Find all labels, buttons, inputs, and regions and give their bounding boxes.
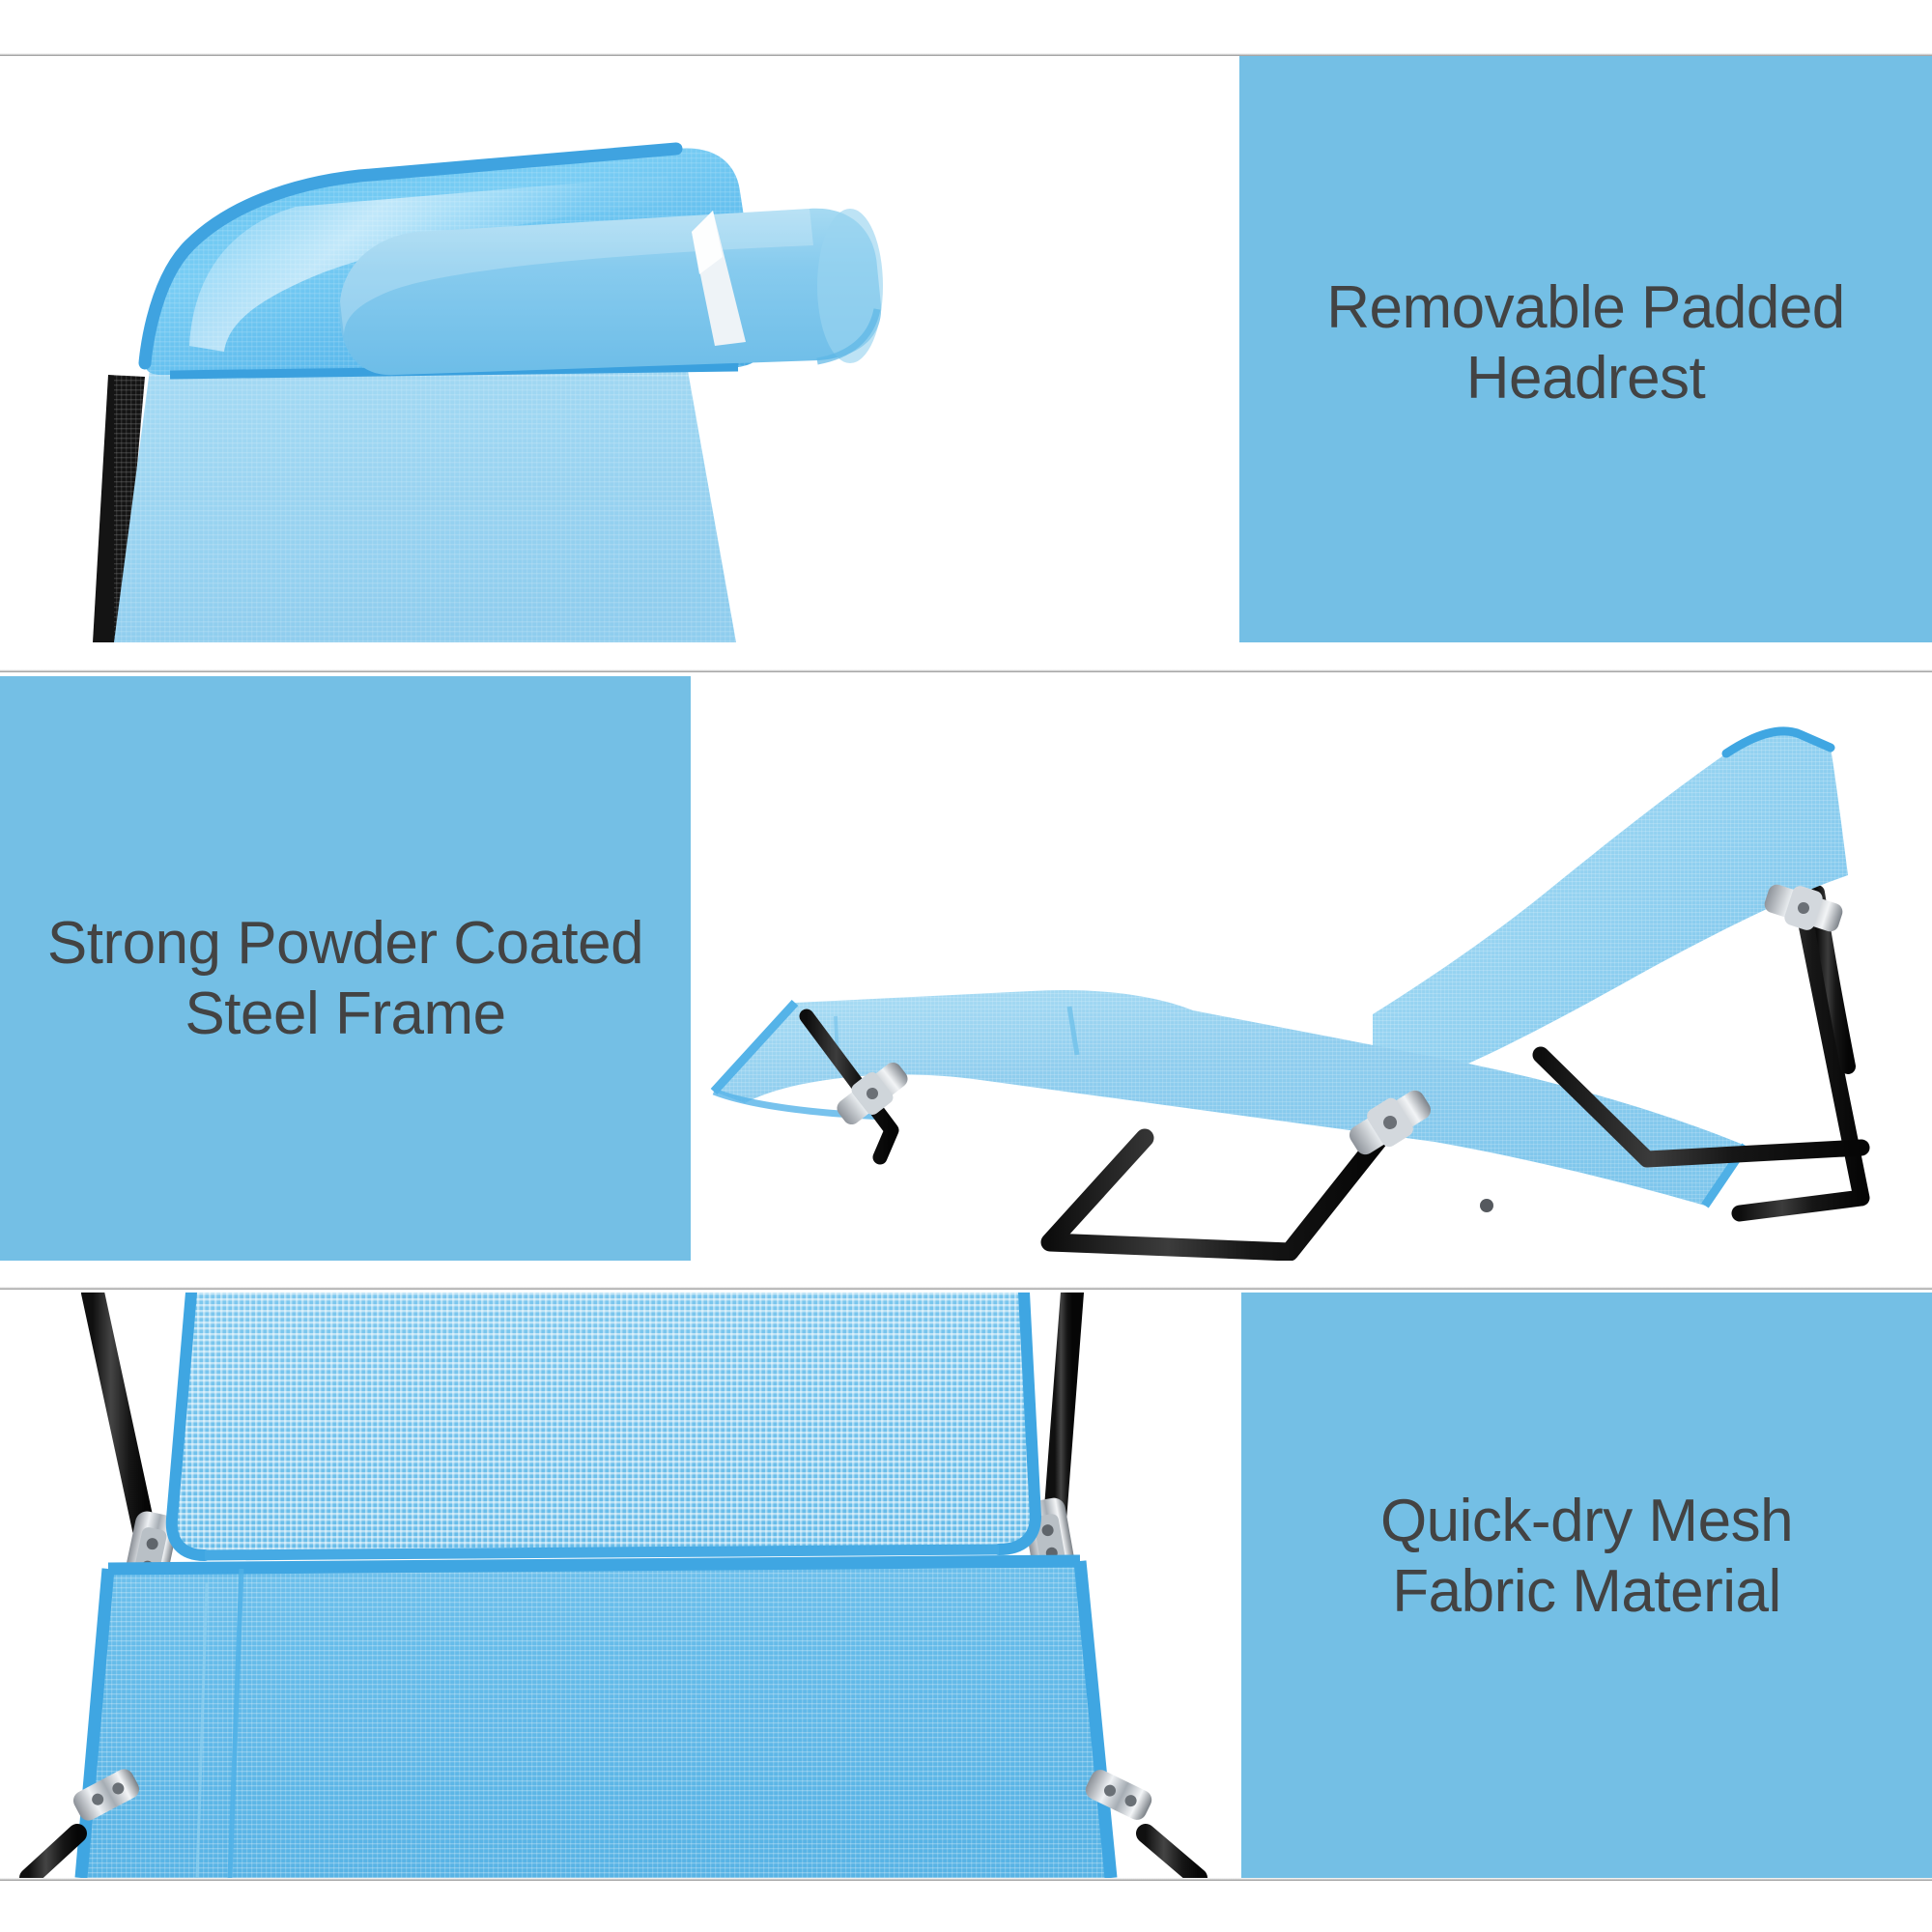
caption-line: Removable Padded [1239, 272, 1932, 343]
caption-strong-powder-coated-steel-frame: Strong Powder Coated Steel Frame [0, 908, 691, 1049]
panel-mesh-caption: Quick-dry Mesh Fabric Material [1241, 1293, 1932, 1878]
panel-headrest-photo [0, 56, 1239, 642]
caption-line: Steel Frame [0, 979, 691, 1049]
infographic-sheet: Removable Padded Headrest Strong Powder … [0, 0, 1932, 1932]
divider-row1-row2 [0, 669, 1932, 672]
caption-quick-dry-mesh-fabric-material: Quick-dry Mesh Fabric Material [1241, 1486, 1932, 1627]
caption-line: Fabric Material [1241, 1556, 1932, 1627]
panel-steelframe-photo [691, 676, 1932, 1261]
divider-row2-row3 [0, 1287, 1932, 1290]
panel-mesh-photo [0, 1293, 1241, 1878]
photo-removable-padded-headrest [0, 56, 1239, 642]
caption-removable-padded-headrest: Removable Padded Headrest [1239, 272, 1932, 413]
caption-line: Quick-dry Mesh [1241, 1486, 1932, 1556]
caption-line: Headrest [1239, 343, 1932, 413]
divider-bottom [0, 1878, 1932, 1881]
photo-quick-dry-mesh-fabric [0, 1293, 1241, 1878]
panel-steelframe-caption: Strong Powder Coated Steel Frame [0, 676, 691, 1261]
panel-headrest-caption: Removable Padded Headrest [1239, 56, 1932, 642]
photo-strong-powder-coated-steel-frame [691, 676, 1932, 1261]
caption-line: Strong Powder Coated [0, 908, 691, 979]
